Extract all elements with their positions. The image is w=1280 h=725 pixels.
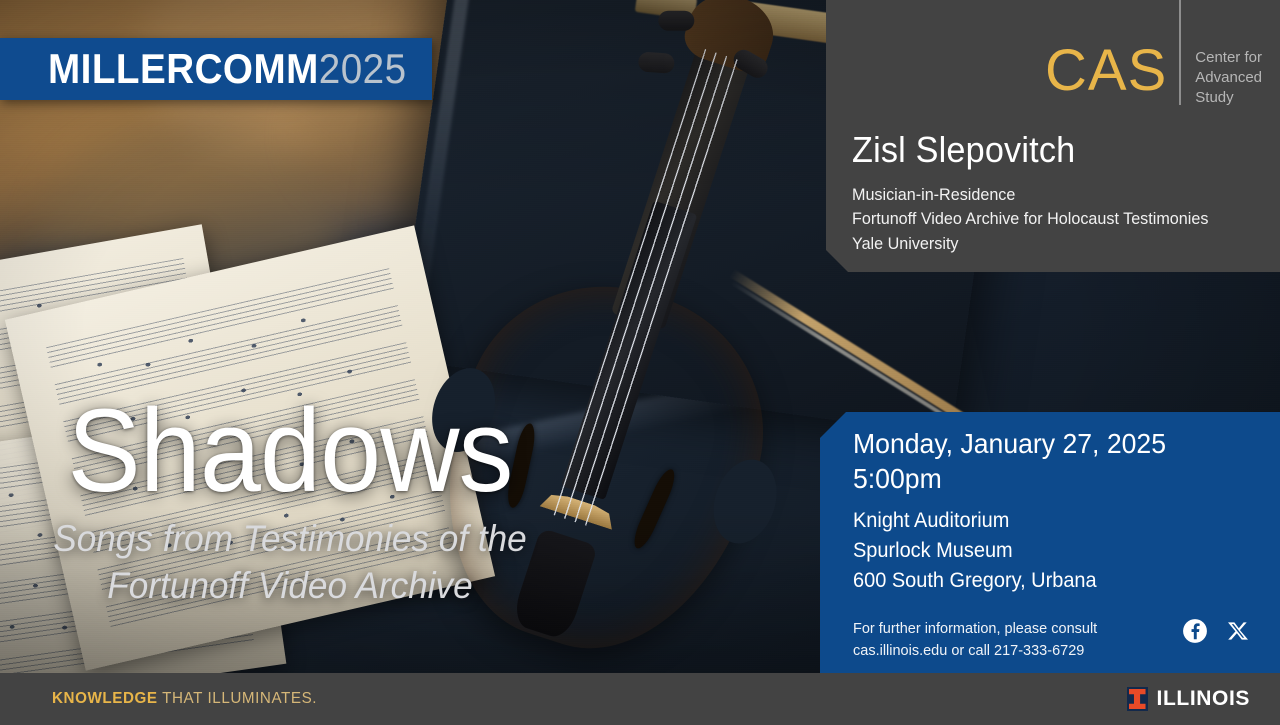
contact-line-2[interactable]: cas.illinois.edu or call 217-333-6729	[853, 641, 1097, 663]
contact-info: For further information, please consult …	[853, 619, 1097, 663]
cas-full-name: Center for Advanced Study	[1195, 0, 1262, 107]
millercomm-banner-text: MILLERCOMM2025	[48, 48, 407, 90]
tagline-knowledge: KNOWLEDGE	[52, 690, 158, 707]
event-datetime: Monday, January 27, 2025 5:00pm	[853, 426, 1166, 497]
illinois-block-i-glyph	[1129, 689, 1146, 709]
speaker-role: Musician-in-Residence	[852, 183, 1208, 207]
millercomm-series-name: MILLERCOMM	[48, 45, 319, 92]
illinois-logo: ILLINOIS	[1127, 687, 1250, 711]
event-venue: Knight Auditorium Spurlock Museum 600 So…	[853, 506, 1097, 595]
cas-logo-divider	[1179, 0, 1181, 105]
cas-name-line-2: Advanced	[1195, 68, 1262, 88]
speaker-affiliation: Musician-in-Residence Fortunoff Video Ar…	[852, 183, 1208, 256]
event-poster: MILLERCOMM2025 Shadows Songs from Testim…	[0, 0, 1280, 725]
millercomm-banner: MILLERCOMM2025	[0, 38, 432, 100]
event-date: Monday, January 27, 2025	[853, 426, 1166, 461]
venue-name: Knight Auditorium	[853, 506, 1097, 536]
social-links	[1182, 618, 1250, 649]
facebook-icon[interactable]	[1182, 618, 1208, 649]
venue-building: Spurlock Museum	[853, 536, 1097, 566]
x-twitter-icon[interactable]	[1226, 619, 1250, 648]
speaker-organization: Fortunoff Video Archive for Holocaust Te…	[852, 207, 1208, 231]
cas-logo: CAS Center for Advanced Study	[1045, 0, 1262, 107]
venue-address: 600 South Gregory, Urbana	[853, 566, 1097, 596]
speaker-name: Zisl Slepovitch	[852, 132, 1075, 168]
footer-bar: KNOWLEDGE THAT ILLUMINATES. ILLINOIS	[0, 673, 1280, 725]
millercomm-year: 2025	[319, 45, 407, 92]
cas-name-line-1: Center for	[1195, 48, 1262, 68]
university-tagline: KNOWLEDGE THAT ILLUMINATES.	[52, 690, 317, 708]
contact-line-1: For further information, please consult	[853, 619, 1097, 641]
cas-name-line-3: Study	[1195, 88, 1262, 108]
tagline-illuminates: THAT ILLUMINATES.	[158, 690, 317, 707]
event-time: 5:00pm	[853, 461, 1166, 496]
cas-acronym: CAS	[1045, 0, 1167, 100]
illinois-block-i-icon	[1127, 687, 1148, 711]
illinois-wordmark: ILLINOIS	[1157, 687, 1250, 711]
speaker-institution: Yale University	[852, 232, 1208, 256]
